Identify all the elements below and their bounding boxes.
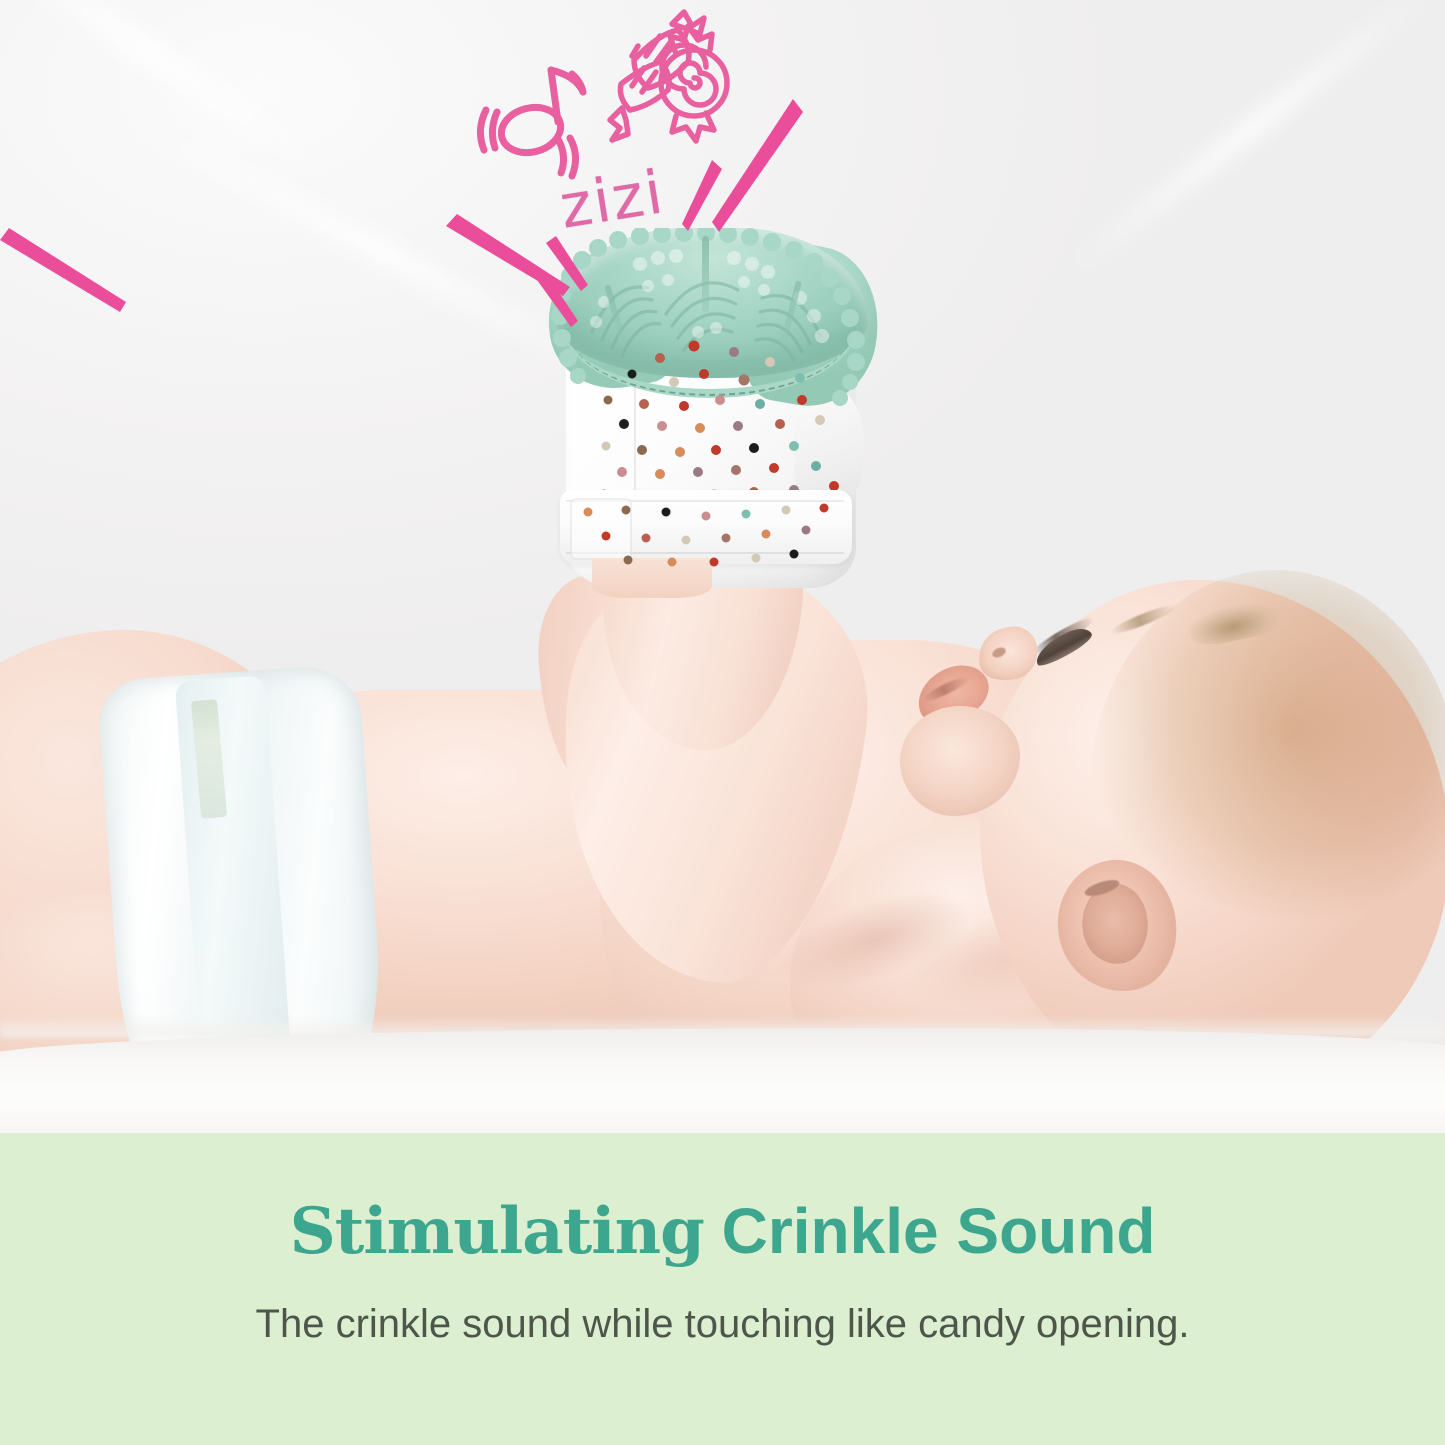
caption-subline: The crinkle sound while touching like ca… (256, 1302, 1190, 1347)
headline-emphasis: Stimulating (290, 1194, 704, 1269)
towel-surface (0, 1028, 1445, 1133)
mitten-adjustable-strap (570, 498, 632, 560)
headline-rest: Crinkle Sound (704, 1195, 1156, 1267)
teething-mitten (548, 228, 878, 588)
silicone-center-rib (702, 236, 709, 312)
caption-band: Stimulating Crinkle Sound The crinkle so… (0, 1133, 1445, 1445)
caption-headline: Stimulating Crinkle Sound (290, 1199, 1156, 1264)
product-image-card: zizi Stimulating Crinkle Sound The crink… (0, 0, 1445, 1445)
lifestyle-photo: zizi (0, 0, 1445, 1133)
baby-wrist (592, 558, 712, 598)
